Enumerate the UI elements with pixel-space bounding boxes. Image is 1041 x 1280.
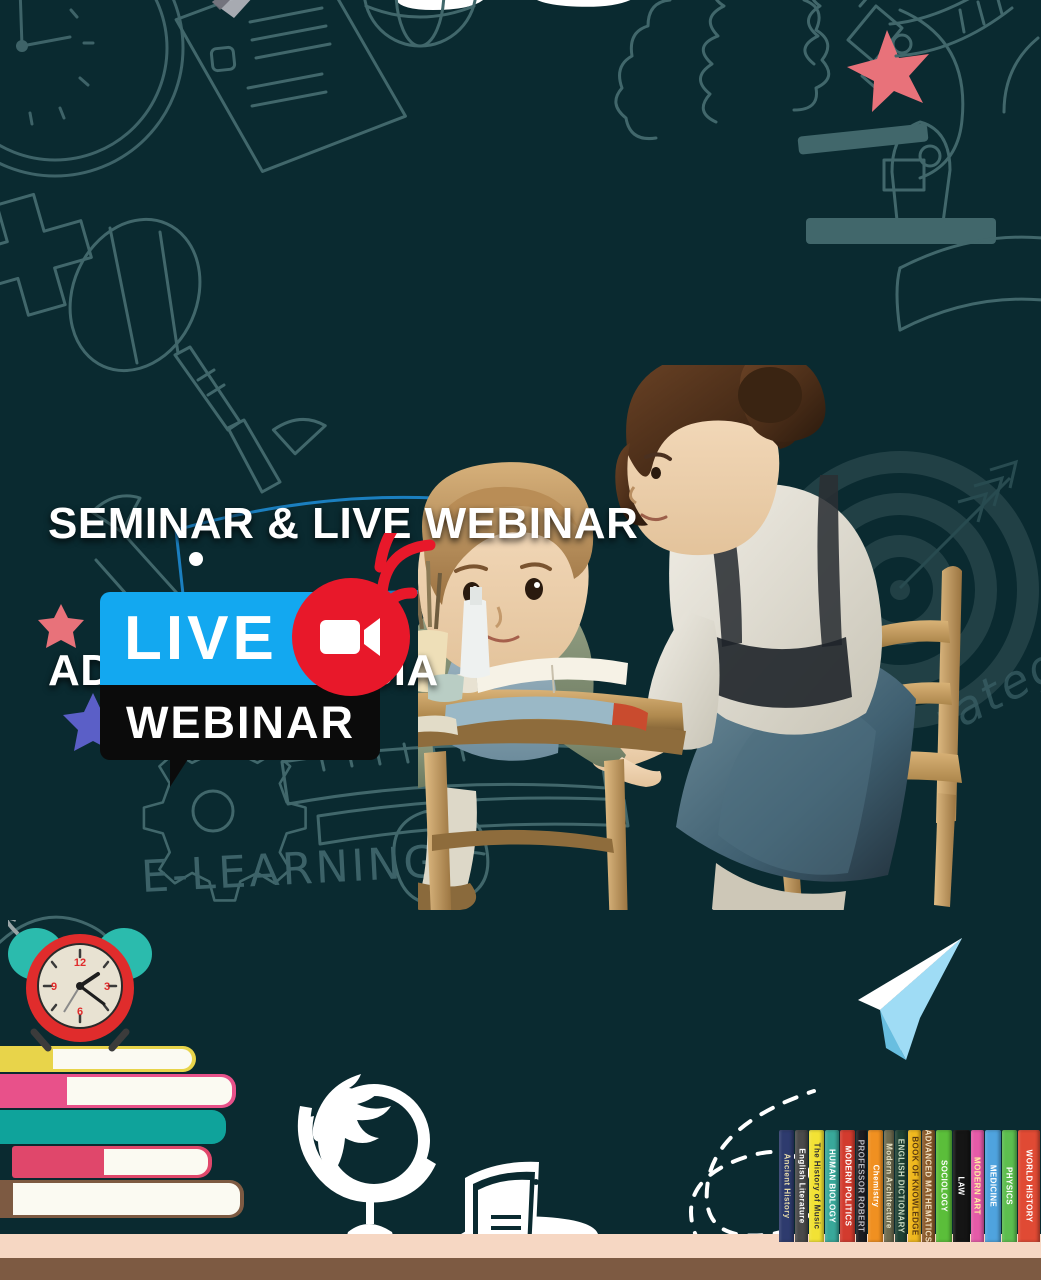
book-red bbox=[12, 1146, 212, 1178]
book-spine: WORLD HISTORY bbox=[1018, 1130, 1040, 1242]
paper-plane-icon bbox=[858, 938, 962, 1060]
book-pink bbox=[0, 1074, 236, 1108]
book-spine-title: Ancient History bbox=[782, 1153, 791, 1218]
book-spine-title: The History of Music bbox=[812, 1143, 821, 1230]
book-spine-title: English Literature bbox=[797, 1148, 806, 1223]
star-coral-icon bbox=[38, 602, 84, 648]
book-spine: Chemistry bbox=[868, 1130, 883, 1242]
book-spine-title: Modern Architecture bbox=[885, 1143, 894, 1229]
book-spine-title: BOOK OF KNOWLEDGE bbox=[910, 1136, 919, 1235]
book-spine: ENGLISH DICTIONARY bbox=[895, 1130, 907, 1242]
book-spine: PROFESSOR ROBERT bbox=[856, 1130, 867, 1242]
book-spine-title: WORLD HISTORY bbox=[1025, 1150, 1034, 1223]
svg-text:12: 12 bbox=[74, 957, 86, 969]
webinar-bubble: WEBINAR bbox=[100, 685, 380, 760]
book-spine: Ancient History bbox=[779, 1130, 794, 1242]
globe-icon bbox=[298, 1074, 436, 1242]
book-spine: PHYSICS bbox=[1002, 1130, 1017, 1242]
live-label: LIVE bbox=[124, 608, 278, 670]
book-spine-title: SOCIOLOGY bbox=[939, 1160, 948, 1212]
book-spine: The History of Music bbox=[809, 1130, 824, 1242]
book-spine: BOOK OF KNOWLEDGE bbox=[908, 1130, 921, 1242]
shelf-edge bbox=[0, 1258, 1041, 1280]
book-spine: Modern Architecture bbox=[884, 1130, 894, 1242]
bubble-tail bbox=[170, 759, 206, 787]
woman-figure bbox=[592, 365, 916, 910]
book-spine-title: HUMAN BIOLOGY bbox=[828, 1149, 837, 1223]
record-circle[interactable] bbox=[292, 578, 410, 696]
star-coral-top bbox=[847, 30, 929, 112]
svg-text:3: 3 bbox=[104, 981, 110, 993]
alarm-clock: 12 3 6 9 bbox=[8, 920, 153, 1052]
book-spine: MODERN ART bbox=[971, 1130, 985, 1242]
video-camera-icon bbox=[320, 618, 382, 656]
book-spine-title: PHYSICS bbox=[1005, 1167, 1014, 1205]
book-spine-title: ADVANCED MATHEMATICS bbox=[924, 1130, 933, 1242]
elearning-text: E-LEARNING bbox=[140, 836, 442, 903]
clock-doodle bbox=[0, 0, 183, 176]
brain-doodle bbox=[616, 0, 829, 139]
book-spine: MODERN POLITICS bbox=[840, 1130, 855, 1242]
book-spine-title: MEDICINE bbox=[988, 1165, 997, 1207]
book-stack bbox=[0, 1040, 256, 1240]
book-doodle-right bbox=[897, 237, 1041, 330]
book-spine: LAW bbox=[953, 1130, 969, 1242]
book-brown bbox=[0, 1180, 244, 1218]
poster-canvas: rateg bbox=[0, 0, 1041, 1280]
book-spine: HUMAN BIOLOGY bbox=[825, 1130, 840, 1242]
book-spine: MEDICINE bbox=[985, 1130, 1000, 1242]
book-spine-title: Chemistry bbox=[871, 1165, 880, 1208]
book-spine: ADVANCED MATHEMATICS bbox=[922, 1130, 935, 1242]
bookshelf-row: Ancient HistoryEnglish LiteratureThe His… bbox=[779, 1130, 1041, 1242]
svg-text:9: 9 bbox=[51, 981, 57, 993]
book-teal bbox=[0, 1110, 226, 1144]
svg-text:6: 6 bbox=[77, 1006, 83, 1018]
title-line-1: SEMINAR & LIVE WEBINAR bbox=[48, 499, 638, 548]
book-spine-title: MODERN ART bbox=[973, 1157, 982, 1215]
book-spine: English Literature bbox=[795, 1130, 808, 1242]
live-webinar-badge[interactable]: LIVE WEBINAR bbox=[95, 545, 445, 780]
book-spine-title: MODERN POLITICS bbox=[843, 1146, 852, 1227]
book-spine-title: ENGLISH DICTIONARY bbox=[897, 1139, 906, 1233]
book-spine-title: LAW bbox=[957, 1177, 966, 1196]
clipboard-doodle bbox=[172, 0, 410, 179]
book-spine-title: PROFESSOR ROBERT bbox=[857, 1140, 866, 1233]
book-spine: SOCIOLOGY bbox=[936, 1130, 952, 1242]
white-brush-strokes bbox=[395, 0, 640, 10]
webinar-label: WEBINAR bbox=[126, 700, 355, 745]
plus-doodle bbox=[0, 186, 99, 323]
